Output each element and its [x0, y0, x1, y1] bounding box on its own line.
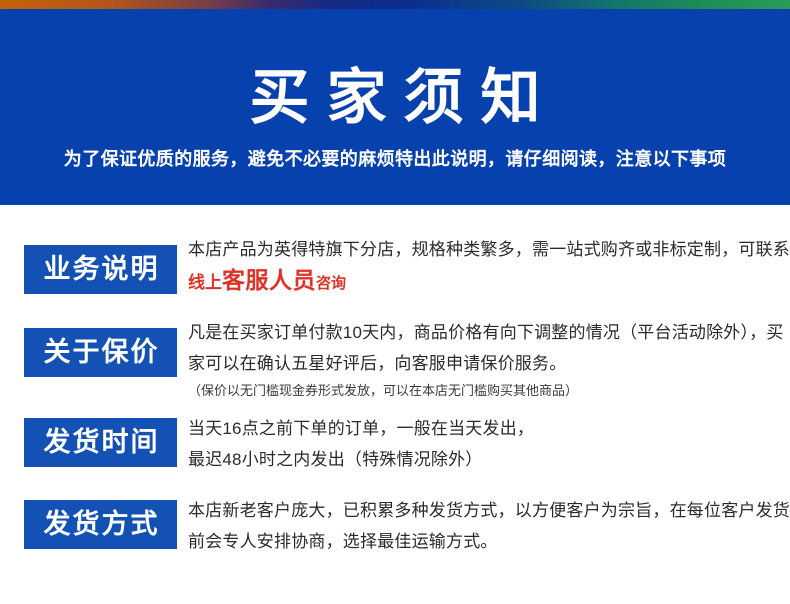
red-suffix-text: 咨询	[316, 275, 346, 292]
red-prefix-text: 线上	[188, 273, 222, 292]
notice-body-line: 前会专人安排协商，选择最佳运输方式。	[188, 526, 778, 557]
notice-body-note: （保价以无门槛现金券形式发放，可以在本店无门槛购买其他商品）	[188, 379, 778, 403]
page-title: 买家须知	[0, 63, 790, 133]
notice-body: 本店新老客户庞大，已积累多种发货方式，以方便客户为宗旨，在每位客户发货 前会专人…	[188, 495, 778, 557]
notice-body: 凡是在买家订单付款10天内，商品价格有向下调整的情况（平台活动除外），买 家可以…	[188, 317, 778, 403]
notice-rows: 业务说明 本店产品为英得特旗下分店，规格种类繁多，需一站式购齐或非标定制，可联系…	[0, 205, 790, 604]
notice-label-price-protection: 关于保价	[24, 328, 177, 377]
header-banner: 买家须知 为了保证优质的服务，避免不必要的麻烦特出此说明，请仔细阅读，注意以下事…	[0, 9, 790, 205]
notice-label-business-description: 业务说明	[24, 245, 177, 294]
notice-body: 当天16点之前下单的订单，一般在当天发出， 最迟48小时之内发出（特殊情况除外）	[188, 413, 778, 475]
buyer-notice-page: 买家须知 为了保证优质的服务，避免不必要的麻烦特出此说明，请仔细阅读，注意以下事…	[0, 0, 790, 604]
notice-label-shipping-time: 发货时间	[24, 418, 177, 467]
red-highlight-text: 客服人员	[222, 267, 316, 293]
notice-body-line: 本店新老客户庞大，已积累多种发货方式，以方便客户为宗旨，在每位客户发货	[188, 495, 778, 526]
page-subtitle: 为了保证优质的服务，避免不必要的麻烦特出此说明，请仔细阅读，注意以下事项	[0, 146, 790, 172]
top-gradient-bar	[0, 0, 790, 9]
notice-body-line: 最迟48小时之内发出（特殊情况除外）	[188, 444, 778, 475]
notice-body: 本店产品为英得特旗下分店，规格种类繁多，需一站式购齐或非标定制，可联系 线上客服…	[188, 234, 778, 299]
notice-body-line: 本店产品为英得特旗下分店，规格种类繁多，需一站式购齐或非标定制，可联系	[188, 234, 778, 265]
contact-service-emphasis: 线上客服人员咨询	[188, 265, 778, 299]
notice-body-line: 凡是在买家订单付款10天内，商品价格有向下调整的情况（平台活动除外），买	[188, 317, 778, 348]
notice-body-line: 家可以在确认五星好评后，向客服申请保价服务。	[188, 348, 778, 379]
notice-body-line: 当天16点之前下单的订单，一般在当天发出，	[188, 413, 778, 444]
notice-label-shipping-method: 发货方式	[24, 500, 177, 549]
